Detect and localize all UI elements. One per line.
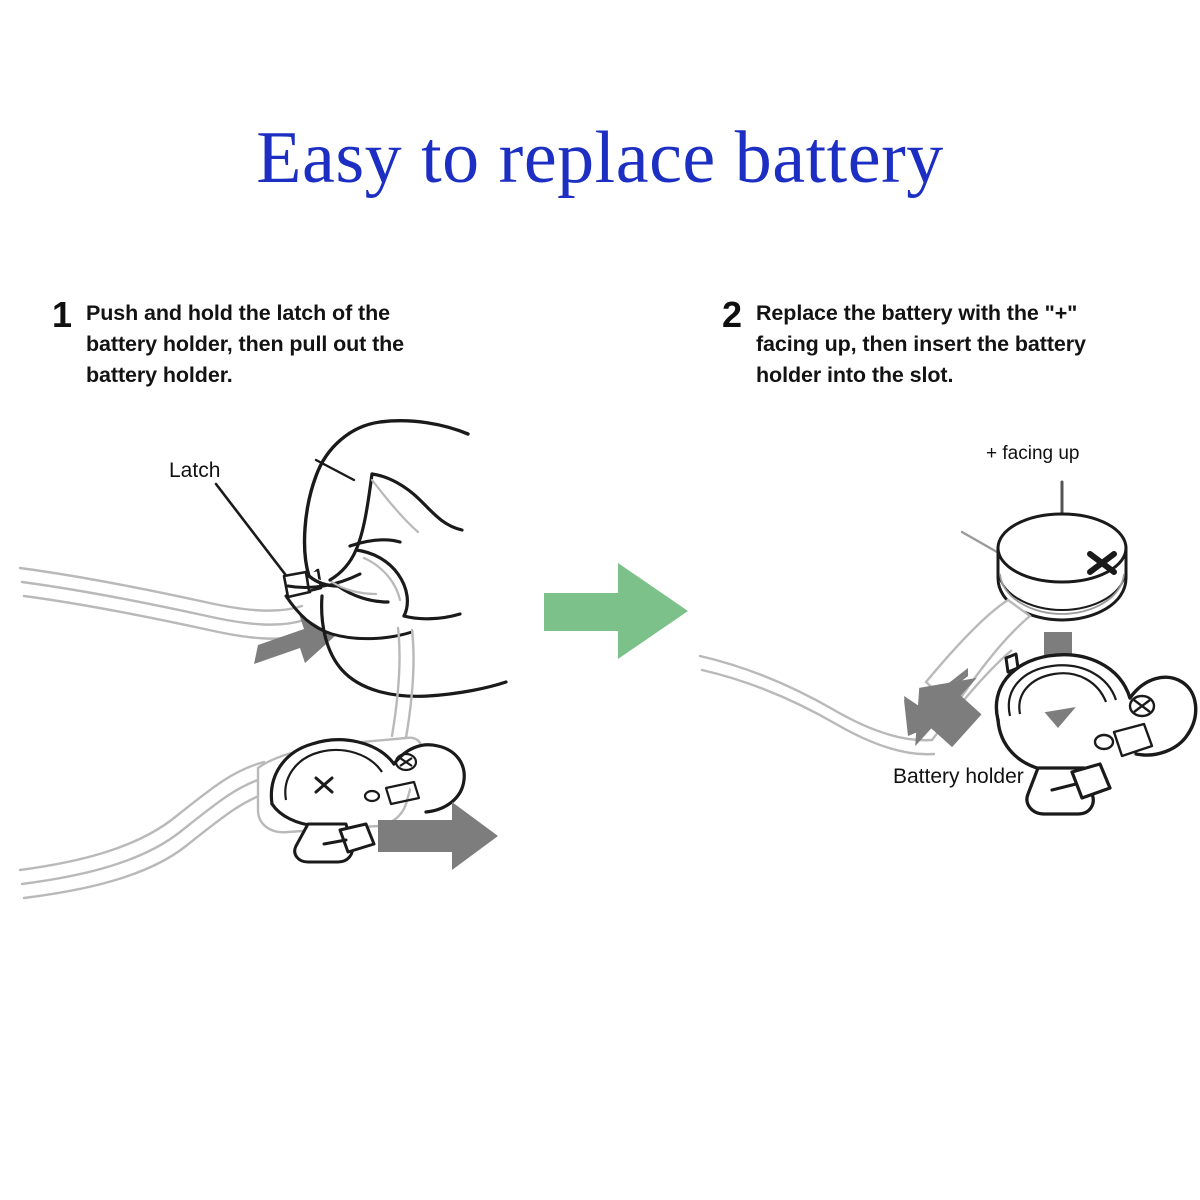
device-frame-arm-lower xyxy=(20,762,276,898)
latch-nub xyxy=(284,570,321,597)
transition-arrow xyxy=(540,555,700,675)
device-frame-arm-upper xyxy=(20,568,306,639)
battery-holder-latch-tab xyxy=(295,824,374,862)
step-1-text: Push and hold the latch of the battery h… xyxy=(86,298,452,391)
step-2: 2 Replace the battery with the "+" facin… xyxy=(722,298,1142,391)
battery-holder-latch-tab xyxy=(1027,764,1110,814)
latch-label: Latch xyxy=(169,459,220,483)
instruction-page: Easy to replace battery 1 Push and hold … xyxy=(0,0,1200,1200)
page-title: Easy to replace battery xyxy=(0,118,1200,198)
battery-top-face xyxy=(998,514,1126,582)
arrow-right-icon xyxy=(544,563,688,659)
hand-lower-fingers xyxy=(338,550,460,619)
battery-holder-empty xyxy=(996,655,1195,770)
page-title-text: Easy to replace battery xyxy=(0,118,1200,198)
battery-holder-label: Battery holder xyxy=(893,765,1024,789)
latch-leader-line xyxy=(216,484,288,578)
step-2-number: 2 xyxy=(722,298,756,332)
step-1-number: 1 xyxy=(52,298,86,332)
step-1: 1 Push and hold the latch of the battery… xyxy=(52,298,452,391)
illustration-step-1 xyxy=(20,400,540,940)
device-hinge-stem xyxy=(392,628,414,738)
device-frame-arm xyxy=(700,656,934,754)
step-2-text: Replace the battery with the "+" facing … xyxy=(756,298,1142,391)
facing-up-label: + facing up xyxy=(986,443,1080,465)
